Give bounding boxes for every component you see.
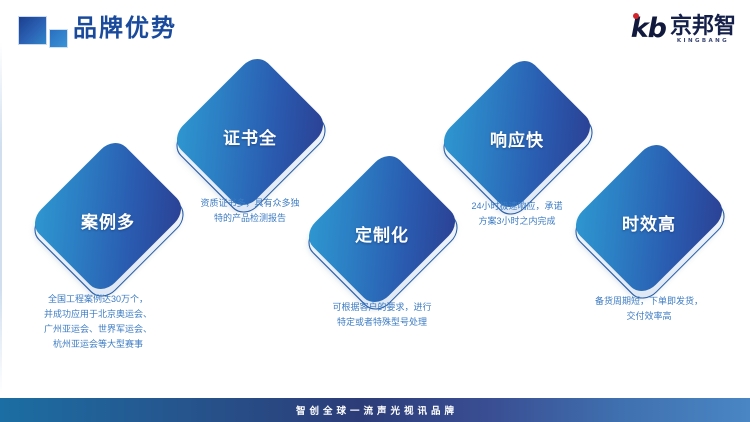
slide-header: 品牌优势 kb 京邦智 KINGBANG (0, 0, 750, 58)
advantage-caption-5: 备货周期短，下单即发货， 交付效率高 (574, 294, 724, 324)
advantage-label-3: 定制化 (330, 221, 434, 246)
advantage-caption-2: 资质证书多，具有众多独 特的产品检测报告 (175, 196, 325, 226)
logo-brand-en: KINGBANG (677, 37, 729, 45)
advantage-label-4: 响应快 (465, 126, 569, 151)
advantage-caption-3: 可根据客户的要求，进行 特定或者特殊型号处理 (307, 300, 457, 330)
slide-root: 品牌优势 kb 京邦智 KINGBANG 案例多 全国工程案例达30万个， 并成… (0, 0, 750, 422)
advantage-label-1: 案例多 (56, 208, 160, 233)
logo-dot-icon (633, 13, 639, 19)
advantage-caption-4: 24小时极速响应，承诺 方案3小时之内完成 (442, 199, 592, 229)
slide-footer: 智创全球一流声光视讯品牌 (0, 398, 750, 422)
square-large-icon (18, 16, 47, 45)
advantage-caption-1: 全国工程案例达30万个， 并成功应用于北京奥运会、 广州亚运会、世界军运会、 杭… (23, 292, 173, 352)
brand-logo: kb 京邦智 KINGBANG (631, 14, 736, 46)
logo-brand-cn: 京邦智 (670, 14, 736, 37)
page-title: 品牌优势 (73, 12, 177, 46)
logo-brand-block: 京邦智 KINGBANG (670, 14, 736, 45)
square-small-icon (49, 29, 68, 48)
advantage-label-5: 时效高 (597, 210, 701, 235)
left-edge-line (0, 42, 2, 394)
advantage-label-2: 证书全 (198, 124, 302, 149)
footer-slogan: 智创全球一流声光视讯品牌 (292, 403, 458, 417)
title-decoration-squares (18, 16, 72, 50)
